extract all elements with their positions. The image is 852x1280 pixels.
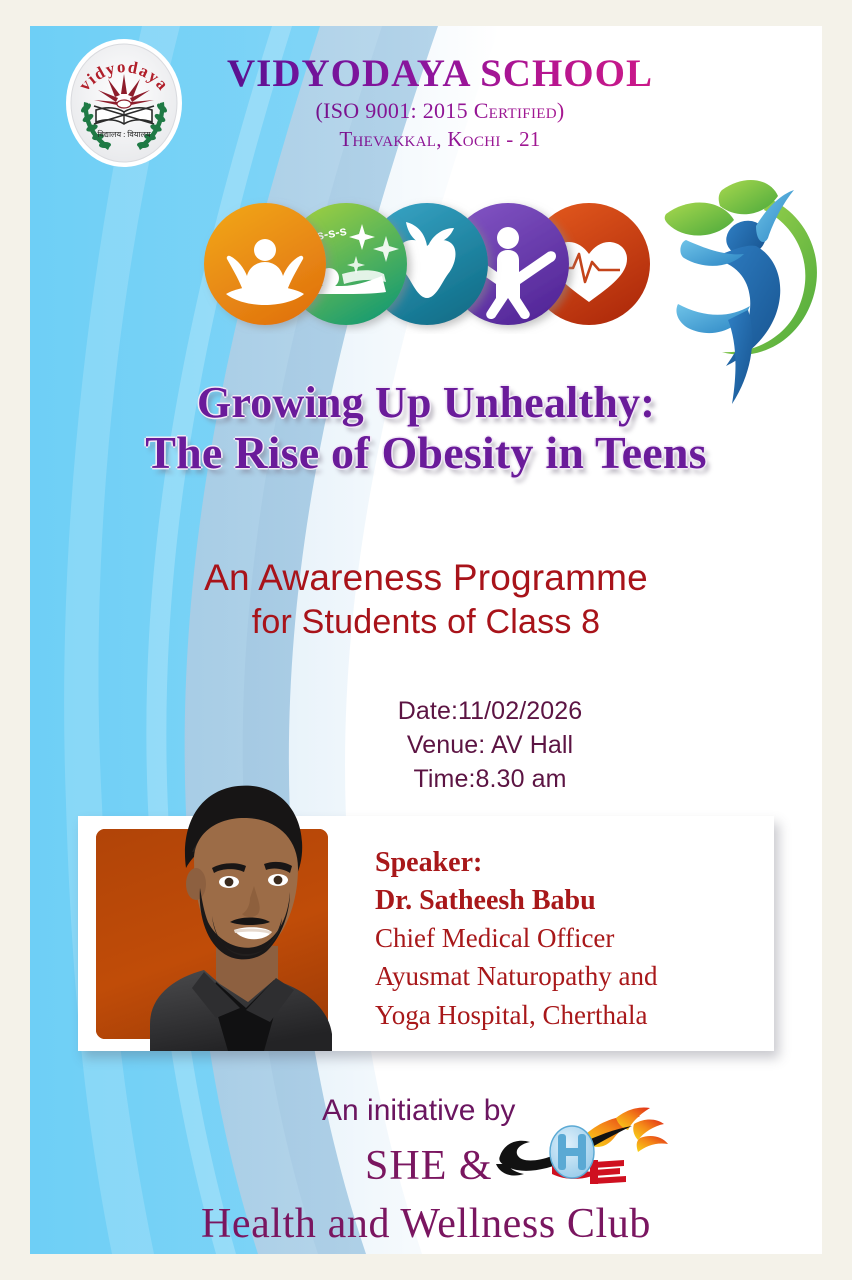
speaker-org-line-2: Yoga Hospital, Cherthala <box>375 996 775 1034</box>
school-identity-block: VIDYODAYA SCHOOL (ISO 9001: 2015 Certifi… <box>180 54 700 154</box>
subtitle-line-1: An Awareness Programme <box>30 554 822 601</box>
poster-footer: An initiative by SHE & <box>30 1094 822 1248</box>
speaker-name: Dr. Satheesh Babu <box>375 882 775 920</box>
event-title: Growing Up Unhealthy: The Rise of Obesit… <box>30 378 822 479</box>
event-subtitle: An Awareness Programme for Students of C… <box>30 554 822 645</box>
svg-text:विद्यालय : वियालय: विद्यालय : वियालय <box>97 129 151 139</box>
iso-certification-line: (ISO 9001: 2015 Certified) <box>180 97 700 126</box>
subtitle-line-2: for Students of Class 8 <box>30 601 822 645</box>
she-eye-flame-logo <box>490 1104 670 1200</box>
poster-root: vidyodaya <box>0 0 852 1280</box>
wellness-icon-row: s-s-s-s <box>196 194 666 334</box>
speaker-role: Chief Medical Officer <box>375 919 775 957</box>
school-address-line: Thevakkal, Kochi - 21 <box>180 126 700 153</box>
she-row: SHE & <box>30 1140 822 1198</box>
speaker-label: Speaker: <box>375 844 775 882</box>
school-crest-logo: vidyodaya <box>60 34 188 172</box>
speaker-portrait <box>88 756 348 1051</box>
initiative-by-text: An initiative by <box>322 1094 515 1128</box>
speaker-details: Speaker: Dr. Satheesh Babu Chief Medical… <box>375 844 775 1034</box>
poster-canvas: vidyodaya <box>30 26 822 1254</box>
school-name: VIDYODAYA SCHOOL <box>180 54 700 94</box>
club-name: Health and Wellness Club <box>30 1200 822 1248</box>
event-date: Date:11/02/2026 <box>280 694 700 728</box>
speaker-org-line-1: Ayusmat Naturopathy and <box>375 957 775 995</box>
she-club-text: SHE & <box>365 1142 493 1190</box>
yoga-meditation-icon <box>204 203 326 325</box>
title-line-2: The Rise of Obesity in Teens <box>30 427 822 479</box>
title-line-1: Growing Up Unhealthy: <box>30 378 822 427</box>
initiative-row: An initiative by <box>30 1094 822 1140</box>
